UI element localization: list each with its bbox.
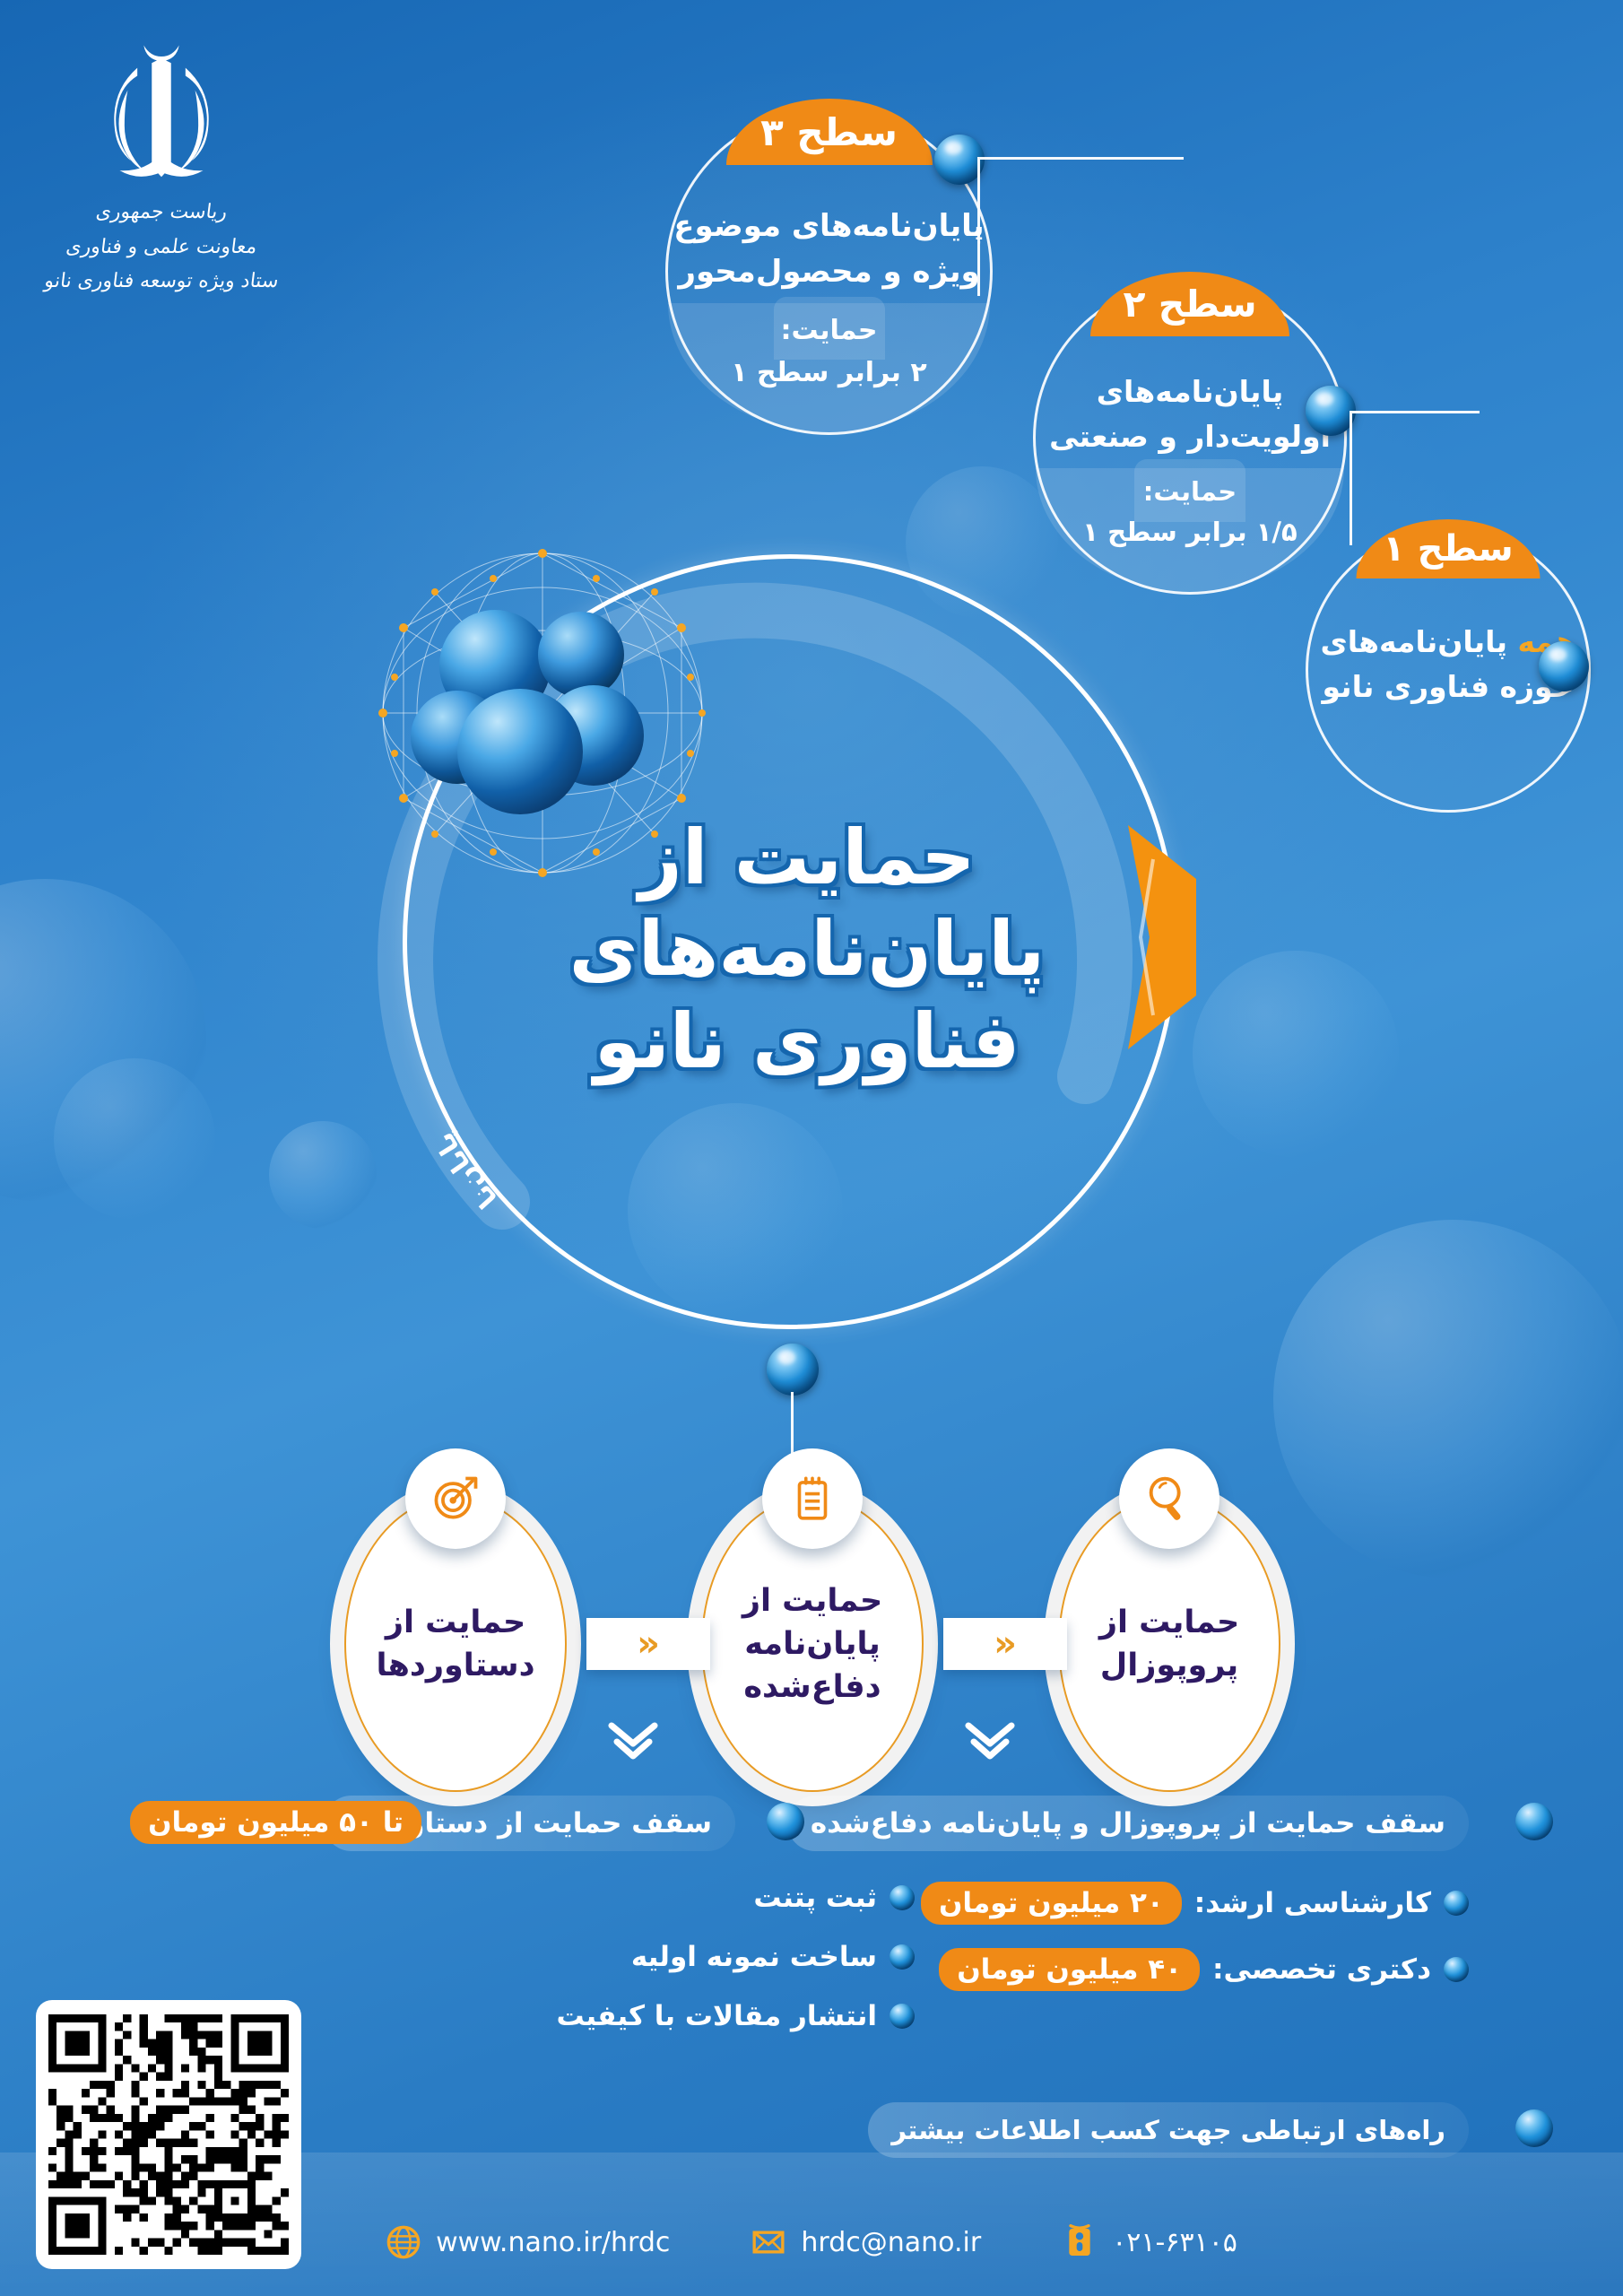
defended-line-1: حمایت از [742,1579,882,1622]
achievement-label-2: ساخت نمونه اولیه [631,1941,877,1973]
support-left-amount-pill: تا ۵۰ میلیون تومان [130,1801,421,1844]
magnifier-icon [1141,1471,1197,1526]
logo-line-nano-hq: ستاد ویژه توسعه فناوری نانو [34,265,290,300]
masters-amount-pill: ۲۰ میلیون تومان [921,1882,1182,1925]
title-line-3: فناوری نانو [475,996,1139,1087]
support-right-bullet-wrap [1515,1803,1553,1840]
phd-amount-pill: ۴۰ میلیون تومان [939,1948,1200,1991]
clipboard-icon [786,1473,838,1525]
process-connector-right: « [943,1618,1067,1670]
qr-code[interactable] [36,2000,301,2269]
footer-website-label: www.nano.ir/hrdc [436,2227,670,2258]
level-2-desc-line-1: پایان‌نامه‌های [1036,370,1344,414]
level-3-badge-label: سطح ۳ [760,110,898,154]
masters-label: کارشناسی ارشد: [1194,1887,1431,1919]
process-oval-achievements-label: حمایت از دستاوردها [376,1601,534,1688]
contact-heading-label: راه‌های ارتباطی جهت کسب اطلاعات بیشتر [891,2115,1445,2145]
support-right-heading: سقف حمایت از پروپوزال و پایان‌نامه دفاع‌… [787,1796,1469,1851]
logo-line-presidency: ریاست جمهوری [34,196,290,230]
level-2-desc-line-2: اولویت‌دار و صنعتی [1036,414,1344,459]
proposal-line-1: حمایت از [1099,1601,1239,1644]
level-1-badge: سطح ۱ [1357,519,1541,578]
down-arrow-right-icon [963,1722,1017,1761]
defended-line-2: پایان‌نامه [742,1622,882,1665]
logo-line-vp-science: معاونت علمی و فناوری [34,230,290,265]
process-connector-left: « [586,1618,710,1670]
achievement-label-3: انتشار مقالات با کیفیت [557,2000,877,2032]
proposal-line-2: پروپوزال [1099,1644,1239,1687]
support-right-heading-label: سقف حمایت از پروپوزال و پایان‌نامه دفاع‌… [811,1807,1445,1839]
level-3-badge: سطح ۳ [726,99,933,165]
achievement-bullet-1 [890,1885,915,1910]
process-oval-defended-label: حمایت از پایان‌نامه دفاع‌شده [742,1579,882,1709]
level-3-desc-line-1: پایان‌نامه‌های موضوع [668,204,990,249]
footer-phone[interactable]: ۰۲۱-۶۳۱۰۵ [1062,2224,1237,2260]
ring-bottom-node-orb [767,1344,819,1396]
support-left-heading-bullet [767,1803,804,1840]
process-chevron-left: « [637,1626,660,1662]
defended-line-3: دفاع‌شده [742,1665,882,1709]
support-right-heading-bullet [1515,1803,1553,1840]
level-2-badge-label: سطح ۲ [1123,283,1256,326]
poster-canvas: ریاست جمهوری معاونت علمی و فناوری ستاد و… [0,0,1623,2296]
proposal-icon-bubble [1119,1448,1219,1549]
defended-icon-bubble [762,1448,863,1549]
achievements-line-1: حمایت از [376,1601,534,1644]
process-chevron-right: « [994,1626,1017,1662]
support-left-amount: تا ۵۰ میلیون تومان [148,1806,404,1839]
telephone-icon [1062,2224,1098,2260]
bubble-decoration [1273,1220,1623,1578]
footer-phone-label: ۰۲۱-۶۳۱۰۵ [1112,2227,1237,2258]
footer-website[interactable]: www.nano.ir/hrdc [386,2224,670,2260]
level-3-description: پایان‌نامه‌های موضوع ویژه و محصول‌محور [668,204,990,295]
level-3-support-label: حمایت: [681,310,977,352]
support-right-row-phd: دکتری تخصصی: ۴۰ میلیون تومان [939,1948,1469,1991]
qr-code-icon [48,2013,289,2257]
level-3-desc-line-2: ویژه و محصول‌محور [668,249,990,295]
bubble-decoration [54,1058,215,1220]
envelope-icon [751,2224,786,2260]
contact-heading: راه‌های ارتباطی جهت کسب اطلاعات بیشتر [868,2102,1469,2158]
level-1-badge-label: سطح ۱ [1383,528,1513,570]
masters-bullet [1444,1891,1469,1916]
contact-heading-bullet [1515,2109,1553,2147]
footer-email[interactable]: hrdc@nano.ir [751,2224,981,2260]
support-left-bullet-wrap [767,1803,804,1840]
level-1-node-orb [1539,641,1589,691]
bubble-decoration [0,879,206,1202]
achievement-bullet-2 [890,1944,915,1970]
title-line-1: حمایت از [475,812,1139,903]
phd-label: دکتری تخصصی: [1212,1953,1431,1986]
level-1-desc-main: پایان‌نامه‌های [1320,624,1506,659]
footer-email-label: hrdc@nano.ir [801,2227,981,2258]
page-title: حمایت از پایان‌نامه‌های فناوری نانو [475,812,1139,1087]
level-3-support-value: ۲ برابر سطح ۱ [681,352,977,395]
level-3-support: حمایت: ۲ برابر سطح ۱ [681,310,977,394]
achievement-item-3: انتشار مقالات با کیفیت [557,2000,915,2032]
down-arrow-left-icon [606,1722,660,1761]
iran-national-emblem-icon [81,34,242,187]
achievement-bullet-3 [890,2004,915,2029]
level-2-description: پایان‌نامه‌های اولویت‌دار و صنعتی [1036,370,1344,458]
process-oval-proposal-label: حمایت از پروپوزال [1099,1601,1239,1688]
title-line-2: پایان‌نامه‌های [475,903,1139,995]
globe-icon [386,2224,421,2260]
achievement-item-2: ساخت نمونه اولیه [631,1941,915,1973]
achievement-item-1: ثبت پتنت [753,1882,915,1914]
achievements-line-2: دستاوردها [376,1644,534,1687]
level-2-node-orb [1306,386,1356,436]
achievement-label-1: ثبت پتنت [753,1882,877,1914]
level-3-to-level-2-connector [977,157,1184,296]
support-right-row-masters: کارشناسی ارشد: ۲۰ میلیون تومان [921,1882,1469,1925]
phd-bullet [1444,1957,1469,1982]
organization-logo: ریاست جمهوری معاونت علمی و فناوری ستاد و… [36,34,287,300]
achievements-icon-bubble [405,1448,506,1549]
contact-bullet-wrap [1515,2109,1553,2147]
target-icon [429,1472,482,1526]
